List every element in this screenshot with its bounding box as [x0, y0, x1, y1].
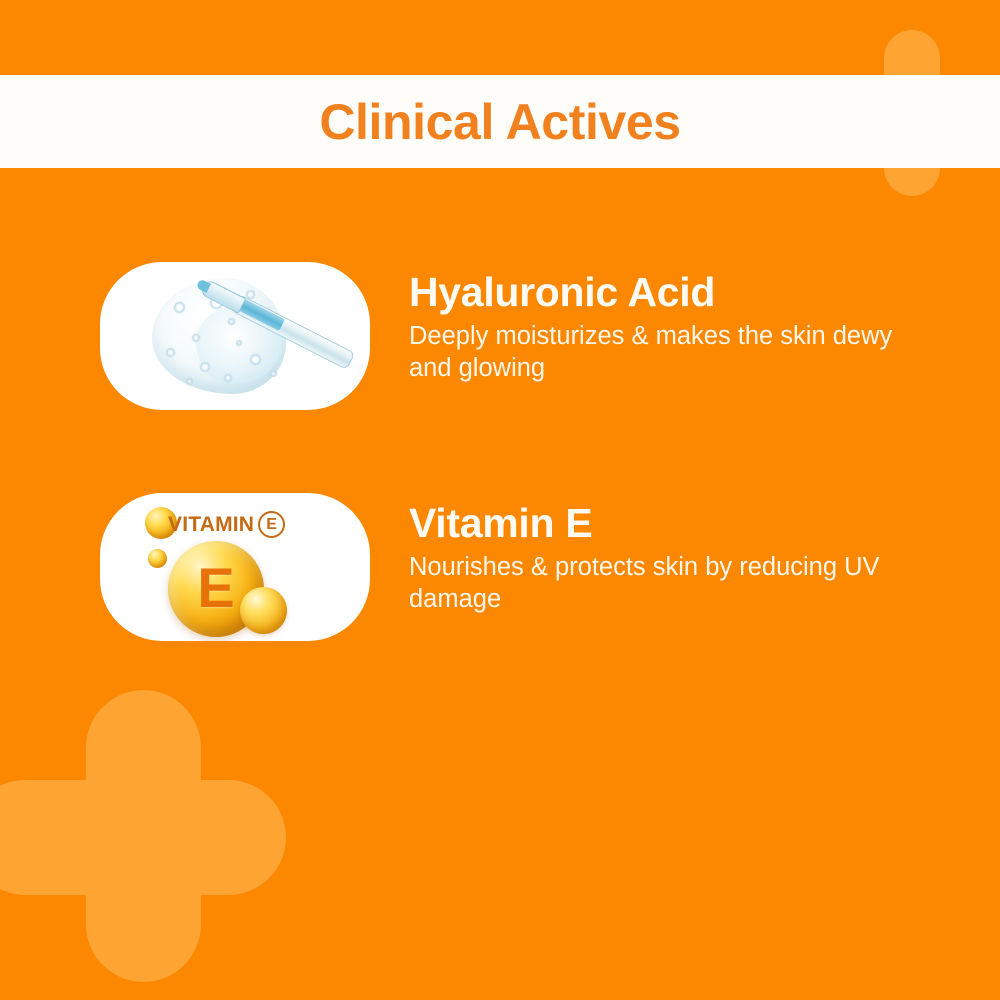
vitamin-e-droplets-icon: VITAMIN E E — [100, 493, 370, 641]
feature-list: Hyaluronic Acid Deeply moisturizes & mak… — [0, 262, 1000, 641]
feature-title: Hyaluronic Acid — [409, 270, 1000, 314]
feature-description: Deeply moisturizes & makes the skin dewy… — [409, 320, 929, 384]
cross-decoration-vertical-bar — [86, 690, 201, 982]
feature-image-card-vitamin-e: VITAMIN E E — [100, 493, 370, 641]
feature-text-vitamin-e: Vitamin E Nourishes & protects skin by r… — [370, 493, 1000, 616]
feature-row-hyaluronic-acid: Hyaluronic Acid Deeply moisturizes & mak… — [0, 262, 1000, 410]
cross-decoration-horizontal-bar — [0, 780, 286, 895]
feature-image-card-hyaluronic-acid — [100, 262, 370, 410]
vitamin-e-wordmark-text: VITAMIN — [168, 513, 254, 537]
title-banner: Clinical Actives — [0, 75, 1000, 168]
droplet-letter: E — [197, 560, 234, 616]
feature-text-hyaluronic-acid: Hyaluronic Acid Deeply moisturizes & mak… — [370, 262, 1000, 385]
feature-title: Vitamin E — [409, 501, 1000, 545]
vitamin-e-wordmark: VITAMIN E — [168, 511, 285, 538]
droplet-small-bottom — [240, 587, 287, 634]
vitamin-e-wordmark-ring: E — [258, 511, 285, 538]
feature-row-vitamin-e: VITAMIN E E Vitamin E Nourishes & protec… — [0, 493, 1000, 641]
poster-canvas: Clinical Actives — [0, 0, 1000, 1000]
droplet-tiny — [148, 549, 167, 568]
serum-gel-drop-icon — [100, 262, 370, 410]
page-title: Clinical Actives — [319, 97, 680, 147]
feature-description: Nourishes & protects skin by reducing UV… — [409, 551, 929, 615]
